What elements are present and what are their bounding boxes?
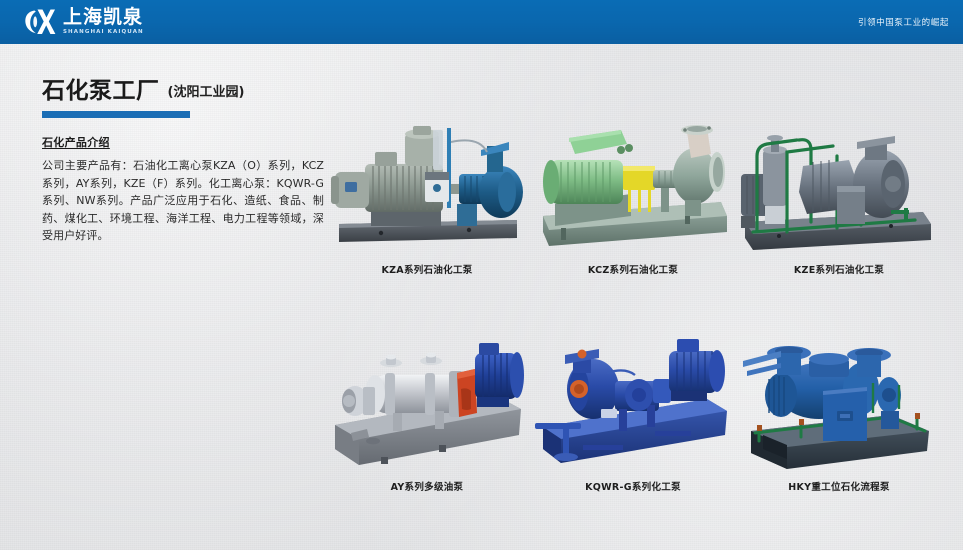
kaiquan-logo-icon	[22, 7, 56, 37]
product-grid: KZA系列石油化工泵	[326, 112, 940, 504]
intro-block: 石化泵工厂 (沈阳工业园) 石化产品介绍 公司主要产品有：石油化工离心泵KZA（…	[42, 78, 324, 245]
product-card-ay: AY系列多级油泵	[326, 329, 528, 504]
product-caption: HKY重工位石化流程泵	[788, 479, 890, 493]
header-slogan: 引领中国泵工业的崛起	[858, 16, 949, 28]
title-underline-bar	[42, 111, 190, 118]
ay-pump-photo	[329, 329, 525, 475]
product-caption: KZE系列石油化工泵	[794, 262, 884, 276]
intro-heading: 石化产品介绍	[42, 134, 324, 150]
kqwrg-pump-photo	[535, 329, 731, 475]
page-title-suffix: (沈阳工业园)	[168, 83, 245, 104]
product-caption: KCZ系列石油化工泵	[588, 262, 678, 276]
kcz-pump-photo	[535, 112, 731, 258]
page-title: 石化泵工厂 (沈阳工业园)	[42, 78, 324, 104]
product-card-kza: KZA系列石油化工泵	[326, 112, 528, 287]
page-header: 上海凯泉 SHANGHAI KAIQUAN 引领中国泵工业的崛起	[0, 0, 963, 44]
slide-page: 上海凯泉 SHANGHAI KAIQUAN 引领中国泵工业的崛起 石化泵工厂 (…	[0, 0, 963, 550]
kza-pump-photo	[329, 112, 525, 258]
kze-pump-photo	[741, 112, 937, 258]
brand-name-cn: 上海凯泉	[63, 8, 144, 27]
product-caption: KZA系列石油化工泵	[381, 262, 472, 276]
intro-body-text: 公司主要产品有：石油化工离心泵KZA（O）系列，KCZ系列，AY系列，KZE（F…	[42, 157, 324, 245]
product-card-kcz: KCZ系列石油化工泵	[532, 112, 734, 287]
product-card-hky: HKY重工位石化流程泵	[738, 329, 940, 504]
hky-pump-photo	[741, 329, 937, 475]
product-caption: AY系列多级油泵	[391, 479, 464, 493]
page-title-main: 石化泵工厂	[42, 78, 160, 104]
product-card-kqwrg: KQWR-G系列化工泵	[532, 329, 734, 504]
product-card-kze: KZE系列石油化工泵	[738, 112, 940, 287]
brand-name-en: SHANGHAI KAIQUAN	[63, 28, 144, 36]
brand-logo: 上海凯泉 SHANGHAI KAIQUAN	[22, 7, 144, 37]
product-caption: KQWR-G系列化工泵	[585, 479, 681, 493]
